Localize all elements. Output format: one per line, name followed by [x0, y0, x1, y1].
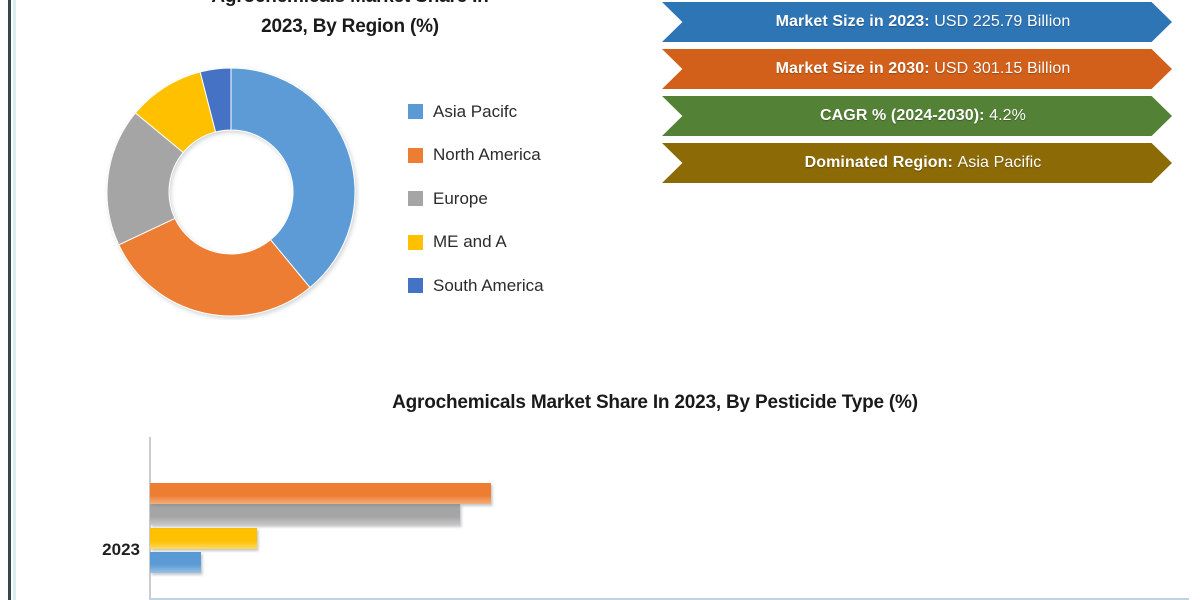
kpi-banner-text: CAGR % (2024-2030): 4.2% [808, 107, 1026, 125]
pesticide-bar-panel: Agrochemicals Market Share In 2023, By P… [0, 392, 1200, 600]
infographic-canvas: Agrochemicals Market Share In 2023, By R… [0, 0, 1200, 600]
kpi-banner-label: Market Size in 2030: [776, 60, 935, 77]
legend-item-label: Europe [433, 189, 488, 209]
legend-color-swatch [408, 278, 423, 293]
kpi-banner-text: Market Size in 2030: USD 301.15 Billion [764, 60, 1071, 78]
donut-legend-item[interactable]: South America [408, 264, 638, 308]
bar-rect [150, 504, 460, 525]
bar-chart-title: Agrochemicals Market Share In 2023, By P… [150, 392, 1160, 414]
kpi-banner-list: Market Size in 2023: USD 225.79 BillionM… [662, 2, 1182, 190]
region-donut-chart [103, 64, 359, 320]
donut-legend-item[interactable]: ME and A [408, 221, 638, 265]
donut-legend-item[interactable]: Asia Pacifc [408, 90, 638, 134]
donut-chart-title: Agrochemicals Market Share In 2023, By R… [140, 0, 560, 42]
kpi-banner: CAGR % (2024-2030): 4.2% [662, 96, 1172, 136]
kpi-banner: Market Size in 2030: USD 301.15 Billion [662, 49, 1172, 89]
kpi-banner-value: 4.2% [989, 107, 1026, 124]
bar-rect [150, 528, 257, 549]
bar-baseline [149, 598, 1189, 600]
legend-color-swatch [408, 235, 423, 250]
legend-item-label: Asia Pacifc [433, 102, 517, 122]
kpi-banner-label: Market Size in 2023: [776, 13, 935, 30]
kpi-banner-text: Market Size in 2023: USD 225.79 Billion [764, 13, 1071, 31]
bar-rect [150, 483, 491, 504]
region-donut-panel: Agrochemicals Market Share In 2023, By R… [30, 0, 650, 352]
legend-color-swatch [408, 191, 423, 206]
legend-color-swatch [408, 148, 423, 163]
bar-rect [150, 552, 201, 573]
kpi-banner-value: USD 225.79 Billion [934, 13, 1070, 30]
kpi-banner-text: Dominated Region: Asia Pacific [793, 154, 1042, 172]
bar-plot-area [149, 437, 1189, 600]
kpi-banner-value: Asia Pacific [958, 154, 1042, 171]
legend-item-label: North America [433, 145, 541, 165]
kpi-banner: Market Size in 2023: USD 225.79 Billion [662, 2, 1172, 42]
kpi-banner-label: Dominated Region: [805, 154, 958, 171]
legend-color-swatch [408, 104, 423, 119]
donut-slice-group [107, 68, 355, 316]
donut-chart-title-line2: 2023, By Region (%) [140, 12, 560, 42]
legend-item-label: South America [433, 276, 544, 296]
donut-chart-title-line1: Agrochemicals Market Share In [140, 0, 560, 12]
kpi-banner: Dominated Region: Asia Pacific [662, 143, 1172, 183]
kpi-banner-label: CAGR % (2024-2030): [820, 107, 989, 124]
legend-item-label: ME and A [433, 232, 507, 252]
bar-category-label-2023: 2023 [78, 540, 140, 560]
donut-svg [103, 64, 359, 320]
donut-legend-item[interactable]: North America [408, 134, 638, 178]
donut-legend: Asia PacifcNorth AmericaEuropeME and ASo… [408, 90, 638, 308]
kpi-banner-value: USD 301.15 Billion [934, 60, 1070, 77]
donut-legend-item[interactable]: Europe [408, 177, 638, 221]
